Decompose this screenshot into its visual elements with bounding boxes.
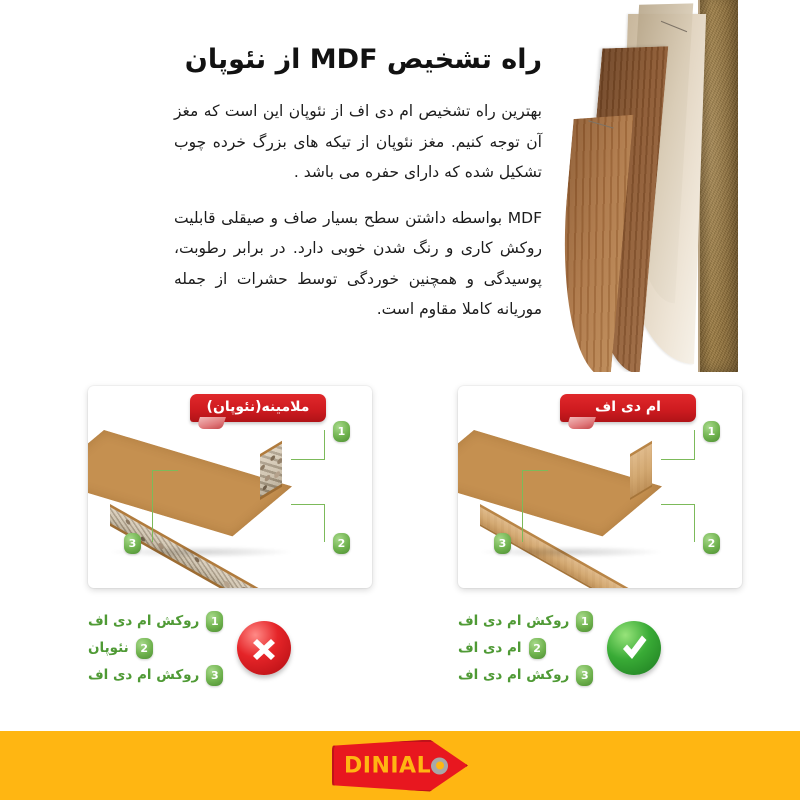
particleboard-card: ملامینه(نئوپان) 1 2 3 — [88, 386, 372, 588]
comparison-row: ملامینه(نئوپان) 1 2 3 — [0, 386, 800, 686]
leader-line-3 — [522, 470, 548, 542]
panel-mdf: ام دی اف 1 2 3 — [458, 386, 742, 694]
ribbon-label-particleboard: ملامینه(نئوپان) — [190, 394, 326, 422]
intro-paragraph-2: MDF بواسطه داشتن سطح بسیار صاف و صیقلی ق… — [174, 203, 542, 324]
legend-badge-1: 1 — [576, 611, 593, 632]
legend-item: 3 روکش ام دی اف — [88, 665, 223, 686]
callout-badge-1: 1 — [703, 421, 720, 442]
intro-paragraph-1: بهترین راه تشخیص ام دی اف از نئوپان این … — [174, 96, 542, 187]
leader-line-1 — [661, 430, 695, 460]
mdf-card: ام دی اف 1 2 3 — [458, 386, 742, 588]
page-title: راه تشخیص MDF از نئوپان — [174, 42, 542, 78]
callout-1-mdf: 1 — [703, 420, 720, 442]
callout-2-mdf: 2 — [703, 532, 720, 554]
legend-badge-2: 2 — [529, 638, 546, 659]
legend-particleboard: 1 روکش ام دی اف 2 نئوپان 3 روکش ام دی اف — [88, 611, 223, 686]
legend-mdf: 1 روکش ام دی اف 2 ام دی اف 3 روکش ام دی … — [458, 611, 593, 686]
callout-3-particleboard: 3 — [124, 532, 141, 554]
callout-badge-3: 3 — [494, 533, 511, 554]
legend-label-2: نئوپان — [88, 640, 129, 656]
legend-badge-1: 1 — [206, 611, 223, 632]
verdict-row-mdf: 1 روکش ام دی اف 2 ام دی اف 3 روکش ام دی … — [458, 602, 742, 694]
callout-badge-1: 1 — [333, 421, 350, 442]
verdict-row-particleboard: 1 روکش ام دی اف 2 نئوپان 3 روکش ام دی اف — [88, 602, 372, 694]
panel-melamine-particleboard: ملامینه(نئوپان) 1 2 3 — [88, 386, 372, 694]
mdf-edge-photo — [560, 0, 800, 372]
callout-badge-2: 2 — [333, 533, 350, 554]
header-block: راه تشخیص MDF از نئوپان بهترین راه تشخیص… — [174, 42, 542, 324]
tag-grommet-icon — [431, 757, 448, 774]
ribbon-label-mdf: ام دی اف — [560, 394, 696, 422]
legend-item: 3 روکش ام دی اف — [458, 665, 593, 686]
legend-item: 2 نئوپان — [88, 638, 153, 659]
legend-label-1: روکش ام دی اف — [458, 613, 569, 629]
leader-line-1 — [291, 430, 325, 460]
dinial-logo-tag: DINIAL — [332, 740, 468, 792]
legend-label-3: روکش ام دی اف — [88, 667, 199, 683]
leader-line-2 — [291, 504, 325, 542]
cross-icon — [237, 621, 291, 675]
legend-item: 1 روکش ام دی اف — [88, 611, 223, 632]
legend-badge-3: 3 — [576, 665, 593, 686]
legend-label-3: روکش ام دی اف — [458, 667, 569, 683]
callout-badge-2: 2 — [703, 533, 720, 554]
leader-line-3 — [152, 470, 178, 542]
check-icon — [607, 621, 661, 675]
legend-label-2: ام دی اف — [458, 640, 522, 656]
infographic-page: راه تشخیص MDF از نئوپان بهترین راه تشخیص… — [0, 0, 800, 800]
brand-name: DINIAL — [344, 753, 431, 778]
legend-badge-2: 2 — [136, 638, 153, 659]
callout-3-mdf: 3 — [494, 532, 511, 554]
callout-1-particleboard: 1 — [333, 420, 350, 442]
callout-badge-3: 3 — [124, 533, 141, 554]
callout-2-particleboard: 2 — [333, 532, 350, 554]
leader-line-2 — [661, 504, 695, 542]
check-glyph — [607, 621, 661, 675]
footer-band: DINIAL — [0, 731, 800, 800]
cross-glyph — [237, 621, 291, 675]
legend-item: 2 ام دی اف — [458, 638, 546, 659]
legend-item: 1 روکش ام دی اف — [458, 611, 593, 632]
legend-label-1: روکش ام دی اف — [88, 613, 199, 629]
grommet-hole — [436, 762, 444, 770]
legend-badge-3: 3 — [206, 665, 223, 686]
